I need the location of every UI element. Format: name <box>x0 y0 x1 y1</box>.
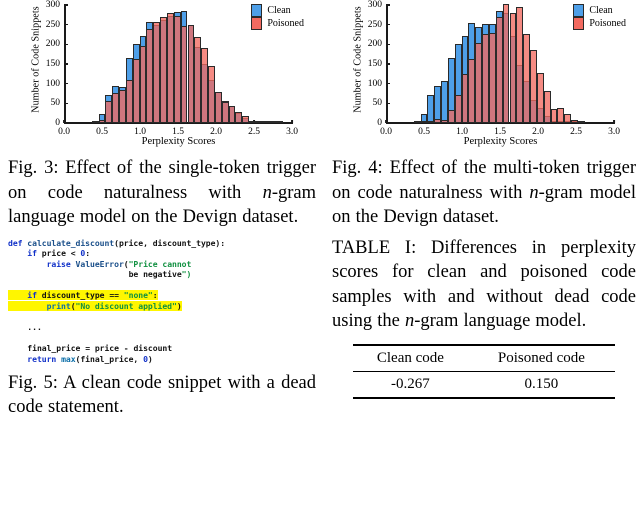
y-tick-label: 250 <box>46 20 64 30</box>
histogram-bar-poisoned <box>222 102 229 123</box>
histogram-bar-poisoned <box>270 121 277 123</box>
histogram-bar-poisoned <box>578 121 585 123</box>
right-column: Number of Code Snippets 0501001502002503… <box>332 0 636 399</box>
y-tick-label: 200 <box>46 39 64 49</box>
y-tick-label: 100 <box>46 79 64 89</box>
histogram-bar-poisoned <box>468 59 475 123</box>
histogram-bar-poisoned <box>571 120 578 123</box>
x-tick-label: 0.5 <box>96 123 108 137</box>
code-line <box>8 280 316 291</box>
histogram-bar-poisoned <box>242 116 249 123</box>
fig3-chart: Number of Code Snippets 0501001502002503… <box>12 0 312 150</box>
histogram-bar-poisoned <box>564 114 571 123</box>
histogram-bar-poisoned <box>140 46 147 123</box>
x-tick-label: 1.0 <box>134 123 146 137</box>
code-line: if price < 0: <box>8 248 316 259</box>
code-line: ... <box>8 322 316 333</box>
legend-swatch-clean-icon <box>251 4 262 17</box>
histogram-bar-poisoned <box>188 25 195 123</box>
fig4-caption-italic: n <box>529 183 538 203</box>
table-body: -0.267 0.150 <box>353 371 615 398</box>
histogram-bar-poisoned <box>489 33 496 123</box>
histogram-bar-poisoned <box>544 91 551 123</box>
histogram-bar-poisoned <box>112 93 119 123</box>
y-tick-mark <box>64 83 68 85</box>
histogram-bar-poisoned <box>448 110 455 123</box>
table-cell-poisoned-value: 0.150 <box>468 371 615 398</box>
fig3-x-axis-label: Perplexity Scores <box>64 136 293 147</box>
perplexity-difference-table: Clean code Poisoned code -0.267 0.150 <box>353 344 615 399</box>
table-row: -0.267 0.150 <box>353 371 615 398</box>
x-tick-label: 0.5 <box>418 123 430 137</box>
x-tick-label: 3.0 <box>608 123 620 137</box>
y-tick-label: 250 <box>368 20 386 30</box>
table-header-row: Clean code Poisoned code <box>353 345 615 372</box>
histogram-bar-poisoned <box>434 119 441 123</box>
histogram-bar-poisoned <box>153 22 160 123</box>
x-tick-mark <box>291 120 293 124</box>
y-tick-mark <box>386 24 390 26</box>
x-tick-mark <box>63 120 65 124</box>
histogram-bar-poisoned <box>174 16 181 123</box>
histogram-bar-poisoned <box>421 121 428 123</box>
fig3-caption-italic: n <box>263 183 272 203</box>
y-tick-label: 150 <box>368 59 386 69</box>
x-tick-label: 1.5 <box>172 123 184 137</box>
fig3-legend-item-poisoned: Poisoned <box>251 17 304 30</box>
histogram-bar-poisoned <box>475 43 482 123</box>
x-tick-label: 2.0 <box>210 123 222 137</box>
legend-swatch-clean-icon <box>573 4 584 17</box>
fig3-legend-label-clean: Clean <box>267 4 290 17</box>
y-tick-mark <box>64 24 68 26</box>
histogram-bar-poisoned <box>249 121 256 123</box>
fig4-legend-item-poisoned: Poisoned <box>573 17 626 30</box>
histogram-bar-poisoned <box>181 26 188 123</box>
histogram-bar-poisoned <box>119 90 126 123</box>
y-tick-label: 300 <box>368 0 386 10</box>
histogram-bar-poisoned <box>167 13 174 123</box>
histogram-bar-poisoned <box>263 121 270 123</box>
histogram-bar-poisoned <box>256 121 263 123</box>
histogram-bar-poisoned <box>201 48 208 123</box>
histogram-bar-poisoned <box>523 34 530 123</box>
code-line <box>8 333 316 344</box>
x-tick-label: 2.5 <box>570 123 582 137</box>
histogram-bar-poisoned <box>194 37 201 123</box>
y-tick-label: 150 <box>46 59 64 69</box>
figure-4: Number of Code Snippets 0501001502002503… <box>332 0 636 230</box>
histogram-bar-poisoned <box>235 112 242 123</box>
x-tick-label: 0.0 <box>380 123 392 137</box>
fig4-chart: Number of Code Snippets 0501001502002503… <box>334 0 634 150</box>
code-line: if discount_type == "none": <box>8 290 316 301</box>
fig3-y-axis-label: Number of Code Snippets <box>31 0 42 120</box>
histogram-bar-poisoned <box>99 120 106 123</box>
figure-4-caption: Fig. 4: Effect of the multi-token trigge… <box>332 156 636 230</box>
histogram-bar-poisoned <box>510 13 517 123</box>
y-tick-mark <box>64 44 68 46</box>
x-tick-label: 2.0 <box>532 123 544 137</box>
table-col-clean-code: Clean code <box>353 345 468 372</box>
code-line: be negative") <box>8 269 316 280</box>
histogram-bar-clean <box>427 95 434 123</box>
table-caption-italic: n <box>405 311 414 331</box>
histogram-bar-poisoned <box>414 121 421 123</box>
histogram-bar-poisoned <box>427 121 434 123</box>
fig3-legend-label-poisoned: Poisoned <box>267 17 304 30</box>
fig3-legend-item-clean: Clean <box>251 4 304 17</box>
histogram-bar-poisoned <box>537 73 544 123</box>
fig4-legend: Clean Poisoned <box>573 4 626 30</box>
histogram-bar-clean <box>434 86 441 123</box>
figure-5-caption: Fig. 5: A clean code snippet with a dead… <box>8 371 316 420</box>
x-tick-label: 3.0 <box>286 123 298 137</box>
histogram-bar-clean <box>441 81 448 123</box>
fig3-legend: Clean Poisoned <box>251 4 304 30</box>
y-tick-mark <box>64 4 68 6</box>
y-tick-mark <box>386 4 390 6</box>
y-tick-mark <box>64 63 68 65</box>
legend-swatch-poisoned-icon <box>251 17 262 30</box>
y-tick-label: 200 <box>368 39 386 49</box>
y-tick-mark <box>386 83 390 85</box>
histogram-bar-poisoned <box>441 120 448 123</box>
y-tick-label: 100 <box>368 79 386 89</box>
y-tick-mark <box>386 63 390 65</box>
histogram-bar-poisoned <box>126 80 133 123</box>
fig4-legend-label-poisoned: Poisoned <box>589 17 626 30</box>
code-line: raise ValueError("Price cannot <box>8 259 316 270</box>
histogram-bar-poisoned <box>516 7 523 123</box>
histogram-bar-poisoned <box>496 17 503 123</box>
code-line: print("No discount applied") <box>8 301 316 312</box>
histogram-bar-poisoned <box>276 121 283 123</box>
x-tick-mark <box>385 120 387 124</box>
table-col-poisoned-code: Poisoned code <box>468 345 615 372</box>
fig4-y-axis-label: Number of Code Snippets <box>353 0 364 120</box>
histogram-bar-poisoned <box>462 74 469 123</box>
x-tick-label: 0.0 <box>58 123 70 137</box>
paper-figure-page: Number of Code Snippets 0501001502002503… <box>0 0 640 521</box>
fig4-x-axis-label: Perplexity Scores <box>386 136 615 147</box>
x-tick-mark <box>613 120 615 124</box>
histogram-bar-poisoned <box>160 17 167 123</box>
histogram-bar-poisoned <box>455 95 462 123</box>
histogram-bar-poisoned <box>482 34 489 123</box>
histogram-bar-poisoned <box>133 59 140 123</box>
code-line: final_price = price - discount <box>8 343 316 354</box>
x-tick-label: 1.0 <box>456 123 468 137</box>
histogram-bar-poisoned <box>503 4 510 123</box>
y-tick-mark <box>64 103 68 105</box>
fig4-legend-item-clean: Clean <box>573 4 626 17</box>
table-1: TABLE I: Differences in perplexity score… <box>332 236 636 399</box>
code-snippet: def calculate_discount(price, discount_t… <box>8 238 316 365</box>
table-cell-clean-value: -0.267 <box>353 371 468 398</box>
y-tick-label: 50 <box>373 98 387 108</box>
code-line: def calculate_discount(price, discount_t… <box>8 238 316 249</box>
left-column: Number of Code Snippets 0501001502002503… <box>8 0 316 420</box>
x-tick-label: 2.5 <box>248 123 260 137</box>
figure-3: Number of Code Snippets 0501001502002503… <box>8 0 316 230</box>
histogram-bar-poisoned <box>92 121 99 123</box>
histogram-bar-poisoned <box>530 50 537 123</box>
histogram-bar-poisoned <box>105 101 112 123</box>
y-tick-label: 50 <box>51 98 65 108</box>
y-tick-mark <box>386 44 390 46</box>
figure-3-caption: Fig. 3: Effect of the single-token trigg… <box>8 156 316 230</box>
y-tick-label: 300 <box>46 0 64 10</box>
table-1-caption: TABLE I: Differences in perplexity score… <box>332 236 636 334</box>
histogram-bar-poisoned <box>229 106 236 123</box>
figure-5: def calculate_discount(price, discount_t… <box>8 238 316 420</box>
histogram-bar-poisoned <box>215 92 222 123</box>
legend-swatch-poisoned-icon <box>573 17 584 30</box>
table-caption-tail: -gram language model. <box>414 311 586 331</box>
x-tick-label: 1.5 <box>494 123 506 137</box>
table-header: Clean code Poisoned code <box>353 345 615 372</box>
histogram-bar-poisoned <box>551 109 558 123</box>
fig4-legend-label-clean: Clean <box>589 4 612 17</box>
y-tick-mark <box>386 103 390 105</box>
code-line <box>8 312 316 323</box>
histogram-bar-poisoned <box>146 29 153 123</box>
histogram-bar-poisoned <box>208 66 215 123</box>
histogram-bar-poisoned <box>557 108 564 123</box>
code-line: return max(final_price, 0) <box>8 354 316 365</box>
